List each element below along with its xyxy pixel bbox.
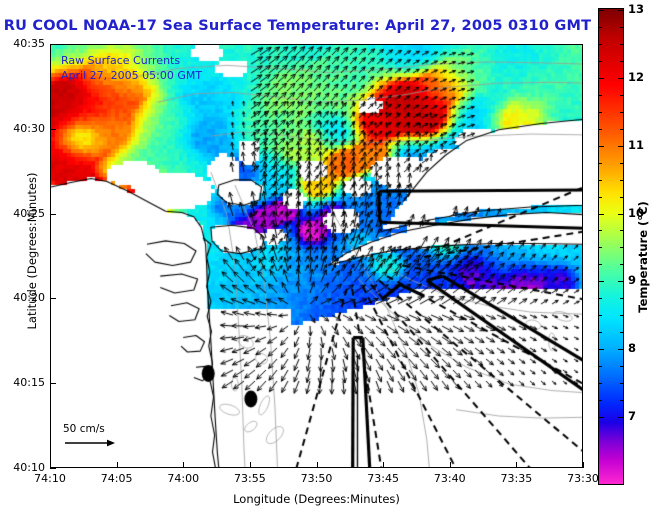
- colorbar-minor-tick: [620, 366, 624, 367]
- colorbar-minor-tick: [620, 44, 624, 45]
- y-axis-tick-label: 40:30: [5, 122, 45, 135]
- colorbar-tick: [618, 78, 624, 79]
- x-axis-tick: [383, 462, 384, 468]
- y-axis-tick-label: 40:15: [5, 376, 45, 389]
- scale-arrow-icon: [63, 437, 119, 449]
- x-axis-tick: [583, 462, 584, 468]
- colorbar-minor-tick: [620, 383, 624, 384]
- colorbar-minor-tick: [620, 298, 624, 299]
- x-axis-tick-label: 74:00: [167, 472, 199, 485]
- y-axis-title: Latitude (Degrees:Minutes): [25, 141, 39, 361]
- colorbar-minor-tick: [620, 315, 624, 316]
- x-axis-tick-label: 73:55: [234, 472, 266, 485]
- x-axis-tick-label: 73:35: [500, 472, 532, 485]
- colorbar-tick: [598, 417, 604, 418]
- velocity-scale-bar: 50 cm/s: [63, 423, 119, 449]
- x-axis-tick: [317, 462, 318, 468]
- colorbar-tick: [598, 214, 604, 215]
- colorbar-minor-tick: [598, 163, 602, 164]
- colorbar-minor-tick: [598, 230, 602, 231]
- y-axis-tick: [50, 383, 56, 384]
- colorbar-minor-tick: [598, 400, 602, 401]
- colorbar-minor-tick: [620, 95, 624, 96]
- x-axis-tick-label: 73:45: [367, 472, 399, 485]
- y-axis-tick: [50, 129, 56, 130]
- colorbar-tick: [618, 417, 624, 418]
- colorbar-tick-label: 9: [628, 273, 636, 287]
- colorbar-minor-tick: [620, 129, 624, 130]
- colorbar-tick-label: 8: [628, 341, 636, 355]
- colorbar-minor-tick: [598, 383, 602, 384]
- colorbar-tick: [618, 10, 624, 11]
- colorbar-minor-tick: [598, 366, 602, 367]
- x-axis-title: Longitude (Degrees:Minutes): [50, 492, 583, 506]
- colorbar-minor-tick: [620, 264, 624, 265]
- x-axis-tick: [183, 462, 184, 468]
- colorbar-tick: [618, 281, 624, 282]
- colorbar-minor-tick: [598, 332, 602, 333]
- colorbar-minor-tick: [598, 44, 602, 45]
- x-axis-tick-label: 73:50: [301, 472, 333, 485]
- colorbar-minor-tick: [620, 61, 624, 62]
- sst-map-plot[interactable]: Raw Surface Currents April 27, 2005 05:0…: [50, 44, 583, 468]
- colorbar-minor-tick: [620, 27, 624, 28]
- colorbar-tick-label: 7: [628, 409, 636, 423]
- y-axis-tick-label: 40:10: [5, 461, 45, 474]
- y-axis-tick-label: 40:20: [5, 291, 45, 304]
- colorbar-minor-tick: [598, 95, 602, 96]
- colorbar-tick: [598, 78, 604, 79]
- colorbar-minor-tick: [620, 247, 624, 248]
- colorbar-minor-tick: [598, 180, 602, 181]
- map-canvas-host: [51, 45, 582, 467]
- colorbar-minor-tick: [620, 112, 624, 113]
- colorbar-tick-label: 11: [628, 138, 644, 152]
- colorbar-tick: [618, 349, 624, 350]
- colorbar-title: Temperature (°C): [636, 177, 650, 337]
- colorbar-minor-tick: [598, 197, 602, 198]
- colorbar-minor-tick: [598, 61, 602, 62]
- colorbar-minor-tick: [598, 27, 602, 28]
- colorbar-tick-label: 10: [628, 206, 644, 220]
- colorbar-minor-tick: [620, 180, 624, 181]
- colorbar-minor-tick: [598, 247, 602, 248]
- colorbar-tick-label: 12: [628, 70, 644, 84]
- colorbar-minor-tick: [620, 197, 624, 198]
- scale-bar-label: 50 cm/s: [63, 423, 119, 435]
- x-axis-tick: [117, 462, 118, 468]
- y-axis-tick: [50, 44, 56, 45]
- y-axis-tick: [50, 214, 56, 215]
- y-axis-tick-label: 40:25: [5, 207, 45, 220]
- x-axis-tick: [450, 462, 451, 468]
- y-axis-tick: [50, 298, 56, 299]
- colorbar-tick: [598, 349, 604, 350]
- colorbar-minor-tick: [620, 230, 624, 231]
- map-overlay-canvas: [51, 45, 583, 468]
- colorbar-tick-label: 13: [628, 2, 644, 16]
- y-axis-tick: [50, 468, 56, 469]
- colorbar-minor-tick: [620, 163, 624, 164]
- x-axis-tick-label: 74:05: [101, 472, 133, 485]
- page-title: RU COOL NOAA-17 Sea Surface Temperature:…: [0, 18, 595, 34]
- colorbar-minor-tick: [598, 264, 602, 265]
- y-axis-tick-label: 40:35: [5, 37, 45, 50]
- x-axis-tick-label: 73:40: [434, 472, 466, 485]
- colorbar-minor-tick: [598, 129, 602, 130]
- colorbar-tick: [618, 146, 624, 147]
- colorbar-tick: [618, 214, 624, 215]
- colorbar-minor-tick: [620, 332, 624, 333]
- colorbar-tick: [598, 146, 604, 147]
- colorbar-tick: [598, 10, 604, 11]
- colorbar-minor-tick: [620, 400, 624, 401]
- x-axis-tick-label: 73:30: [567, 472, 599, 485]
- colorbar-tick: [598, 281, 604, 282]
- colorbar-minor-tick: [598, 298, 602, 299]
- colorbar-minor-tick: [598, 315, 602, 316]
- x-axis-tick: [516, 462, 517, 468]
- x-axis-tick: [250, 462, 251, 468]
- colorbar-minor-tick: [598, 112, 602, 113]
